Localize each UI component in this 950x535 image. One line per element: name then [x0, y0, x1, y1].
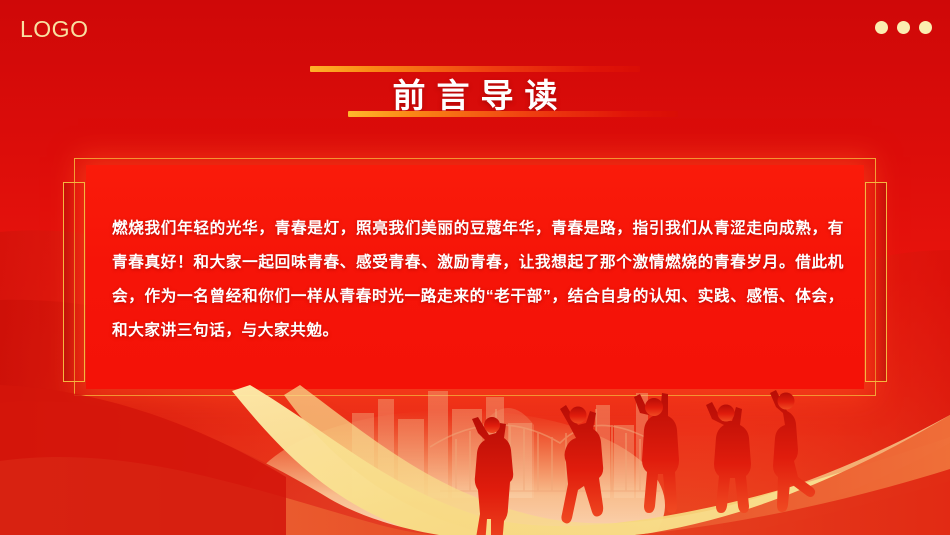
window-dots[interactable]: [875, 21, 932, 34]
decorative-pillar-right: [865, 182, 887, 382]
dot-2[interactable]: [897, 21, 910, 34]
content-paragraph: 燃烧我们年轻的光华，青春是灯，照亮我们美丽的豆蔻年华，青春是路，指引我们从青涩走…: [112, 212, 844, 348]
dot-1[interactable]: [875, 21, 888, 34]
title-accent-bar-bottom: [348, 111, 678, 117]
logo[interactable]: LOGO: [20, 16, 88, 43]
dot-3[interactable]: [919, 21, 932, 34]
slide-canvas: LOGO 前言导读 燃烧我们年轻的光华，青春是灯，照亮我们美丽的豆蔻年华，青春是…: [0, 0, 950, 535]
page-title: 前言导读: [0, 69, 950, 117]
decorative-pillar-left: [63, 182, 85, 382]
title-block: 前言导读: [0, 62, 950, 132]
bottom-illustration: [0, 385, 950, 535]
